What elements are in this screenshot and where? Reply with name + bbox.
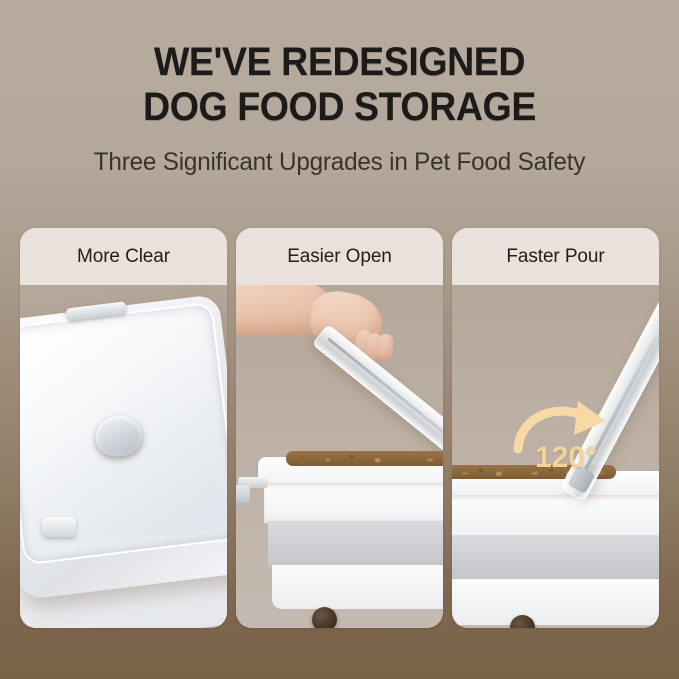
bin-upper-section [264, 481, 443, 523]
panel-image-easier-open [236, 285, 443, 628]
feature-panel-row: More Clear Easier Open [20, 228, 659, 628]
side-latch [42, 517, 76, 537]
panel-header-faster-pour: Faster Pour [452, 228, 659, 285]
panel-image-faster-pour: 120° [452, 285, 659, 628]
feature-panel-easier-open: Easier Open [236, 228, 443, 628]
feature-panel-faster-pour: Faster Pour 120° [452, 228, 659, 628]
panel-title: Faster Pour [506, 246, 604, 268]
bin-lower-section [452, 579, 659, 625]
panel-header-more-clear: More Clear [20, 228, 227, 285]
headline-line-1: WE'VE REDESIGNED [20, 40, 658, 85]
subtitle: Three Significant Upgrades in Pet Food S… [10, 148, 669, 177]
bin-middle-section [268, 521, 443, 567]
pour-spout-lever [236, 485, 250, 503]
caster-wheel [312, 607, 337, 628]
kibble-fill [286, 451, 443, 466]
panel-title: Easier Open [287, 246, 392, 268]
clear-lid-assembly [20, 294, 227, 600]
header: WE'VE REDESIGNED DOG FOOD STORAGE Three … [0, 0, 679, 177]
panel-header-easier-open: Easier Open [236, 228, 443, 285]
bin-lower-section [272, 565, 443, 609]
bin-middle-section [452, 535, 659, 581]
food-bin [452, 471, 659, 628]
panel-title: More Clear [77, 246, 170, 268]
angle-annotation: 120° [508, 397, 624, 481]
bin-upper-section [452, 493, 659, 537]
finger [377, 334, 394, 362]
food-bin [258, 457, 443, 615]
headline-line-2: DOG FOOD STORAGE [20, 85, 658, 130]
feature-panel-more-clear: More Clear [20, 228, 227, 628]
angle-value: 120° [508, 441, 624, 475]
panel-image-more-clear [20, 285, 227, 628]
